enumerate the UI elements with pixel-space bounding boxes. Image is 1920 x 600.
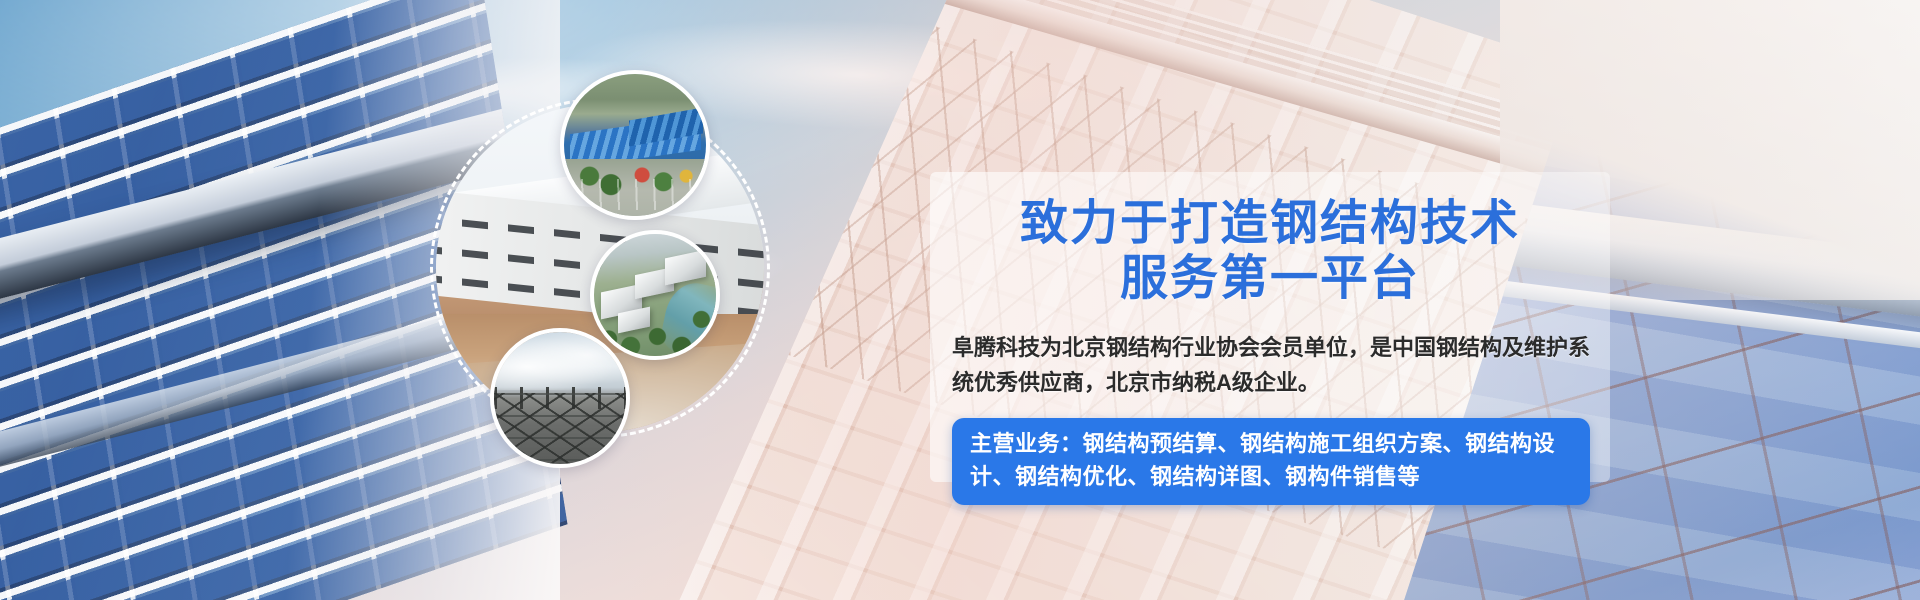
main-business-badge: 主营业务：钢结构预结算、钢结构施工组织方案、钢结构设计、钢结构优化、钢结构详图、… [952, 418, 1590, 505]
blue-roof-factory-photo [564, 74, 706, 216]
parking-lines [564, 179, 706, 210]
truss-lattice [490, 393, 630, 467]
steel-space-frame-photo [494, 332, 626, 464]
photo-collage [430, 70, 890, 530]
collage-thumb-factory-aerial [560, 70, 710, 220]
collage-thumb-steel-truss [490, 328, 630, 468]
hero-banner: 致力于打造钢结构技术 服务第一平台 阜腾科技为北京钢结构行业协会会员单位，是中国… [0, 0, 1920, 600]
company-intro-text: 阜腾科技为北京钢结构行业协会会员单位，是中国钢结构及维护系统优秀供应商，北京市纳… [952, 330, 1592, 400]
truss-sky [494, 332, 626, 390]
page-title: 致力于打造钢结构技术 服务第一平台 [930, 196, 1610, 305]
